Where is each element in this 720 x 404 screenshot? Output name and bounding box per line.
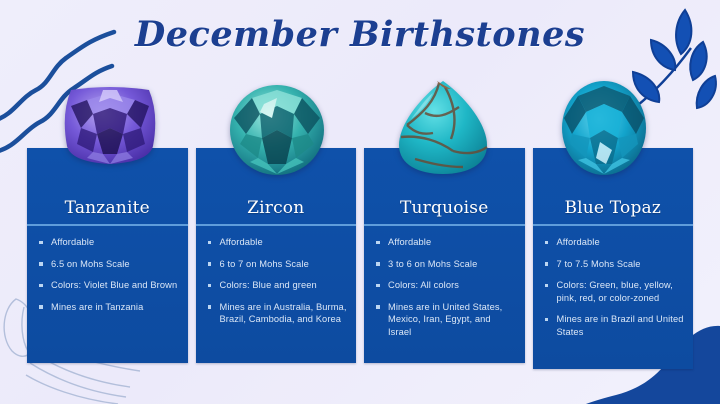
fact-list: Affordable 6.5 on Mohs Scale Colors: Vio… [37, 236, 180, 313]
birthstone-card-tanzanite[interactable]: Tanzanite Affordable 6.5 on Mohs Scale C… [27, 148, 188, 363]
card-title: Blue Topaz [564, 198, 661, 218]
list-item: Mines are in United States, Mexico, Iran… [374, 301, 517, 339]
card-title: Zircon [247, 198, 304, 218]
list-item: Affordable [543, 236, 686, 249]
list-item: 3 to 6 on Mohs Scale [374, 258, 517, 271]
card-title: Tanzanite [65, 198, 150, 218]
list-item: 6 to 7 on Mohs Scale [206, 258, 349, 271]
list-item: Mines are in Tanzania [37, 301, 180, 314]
fact-list: Affordable 6 to 7 on Mohs Scale Colors: … [206, 236, 349, 326]
list-item: Affordable [374, 236, 517, 249]
card-body: Affordable 6.5 on Mohs Scale Colors: Vio… [27, 226, 188, 363]
card-body: Affordable 7 to 7.5 Mohs Scale Colors: G… [533, 226, 694, 369]
list-item: Affordable [206, 236, 349, 249]
list-item: 6.5 on Mohs Scale [37, 258, 180, 271]
card-body: Affordable 6 to 7 on Mohs Scale Colors: … [196, 226, 357, 363]
list-item: Colors: Violet Blue and Brown [37, 279, 180, 292]
blue-topaz-gem [556, 80, 652, 176]
tanzanite-gem [57, 84, 163, 166]
zircon-gem [228, 84, 326, 176]
list-item: 7 to 7.5 Mohs Scale [543, 258, 686, 271]
list-item: Colors: Green, blue, yellow, pink, red, … [543, 279, 686, 304]
list-item: Mines are in Brazil and United States [543, 313, 686, 338]
list-item: Colors: All colors [374, 279, 517, 292]
list-item: Colors: Blue and green [206, 279, 349, 292]
birthstone-card-turquoise[interactable]: Turquoise Affordable 3 to 6 on Mohs Scal… [364, 148, 525, 363]
birthstone-card-row: Tanzanite Affordable 6.5 on Mohs Scale C… [27, 148, 693, 363]
december-birthstones-poster: December Birthstones [0, 0, 720, 404]
fact-list: Affordable 3 to 6 on Mohs Scale Colors: … [374, 236, 517, 338]
list-item: Mines are in Australia, Burma, Brazil, C… [206, 301, 349, 326]
turquoise-gem [393, 79, 493, 176]
birthstone-card-blue-topaz[interactable]: Blue Topaz Affordable 7 to 7.5 Mohs Scal… [533, 148, 694, 369]
birthstone-card-zircon[interactable]: Zircon Affordable 6 to 7 on Mohs Scale C… [196, 148, 357, 363]
card-body: Affordable 3 to 6 on Mohs Scale Colors: … [364, 226, 525, 363]
list-item: Affordable [37, 236, 180, 249]
fact-list: Affordable 7 to 7.5 Mohs Scale Colors: G… [543, 236, 686, 338]
card-title: Turquoise [400, 198, 489, 218]
page-title: December Birthstones [0, 14, 720, 55]
